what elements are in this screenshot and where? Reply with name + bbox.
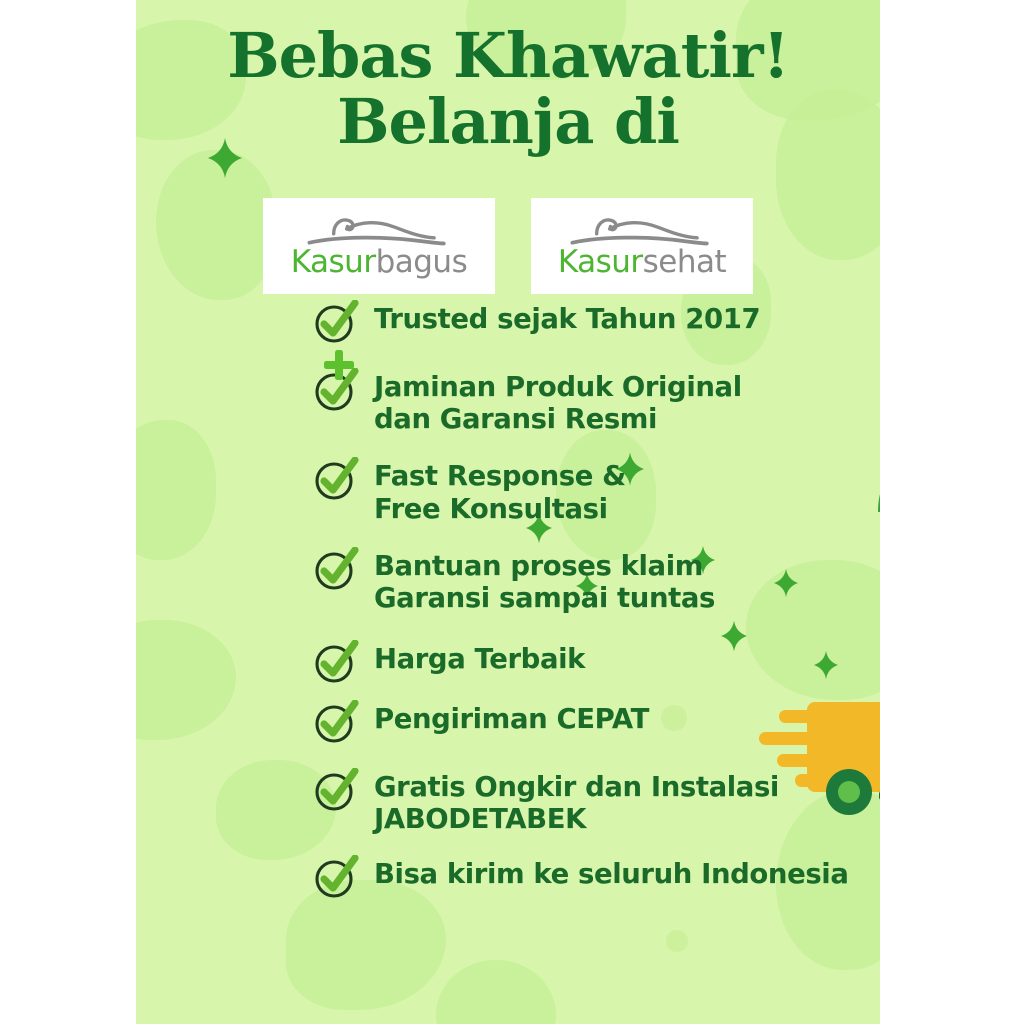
check-circle-icon [314, 855, 360, 899]
brand-name-green: Kasur [291, 244, 376, 280]
check-circle-icon [314, 700, 360, 744]
list-item-label: Jaminan Produk Originaldan Garansi Resmi [374, 368, 742, 435]
plus-icon [322, 348, 356, 387]
brand-logos: Kasurbagus Kasursehat [136, 198, 880, 294]
brand-name-green: Kasur [558, 244, 643, 280]
list-item: Pengiriman CEPAT [314, 700, 880, 744]
check-circle-icon [314, 547, 360, 591]
background-blob [436, 960, 556, 1024]
list-item: Jaminan Produk Originaldan Garansi Resmi [314, 368, 880, 435]
brand-logo-kasurbagus[interactable]: Kasurbagus [263, 198, 495, 294]
poster-canvas: Bebas Khawatir! Belanja di [0, 0, 1024, 1024]
brand-name-gray: sehat [643, 244, 727, 280]
brand-logo-kasursehat[interactable]: Kasursehat [531, 198, 753, 294]
benefits-checklist: Trusted sejak Tahun 2017 Jaminan Produk … [314, 300, 880, 919]
list-item: Fast Response &Free Konsultasi [314, 457, 880, 524]
list-item-label: Gratis Ongkir dan InstalasiJABODETABEK [374, 768, 779, 835]
list-item: Bantuan proses klaimGaransi sampai tunta… [314, 547, 880, 614]
list-item: Harga Terbaik [314, 640, 880, 684]
headline-line-2: Belanja di [136, 87, 880, 156]
promo-poster: Bebas Khawatir! Belanja di [136, 0, 880, 1024]
check-circle-icon [314, 640, 360, 684]
check-circle-icon [314, 457, 360, 501]
list-item-label: Bisa kirim ke seluruh Indonesia [374, 855, 848, 890]
list-item-label: Trusted sejak Tahun 2017 [374, 300, 760, 335]
list-item: Trusted sejak Tahun 2017 [314, 300, 880, 344]
list-item-label: Bantuan proses klaimGaransi sampai tunta… [374, 547, 715, 614]
check-circle-icon [314, 300, 360, 344]
background-blob [136, 420, 216, 560]
list-item: Gratis Ongkir dan InstalasiJABODETABEK [314, 768, 880, 835]
background-dot [666, 930, 688, 952]
list-item-label: Pengiriman CEPAT [374, 700, 649, 735]
check-circle-icon [314, 768, 360, 812]
brand-name-gray: bagus [376, 244, 468, 280]
headline-line-1: Bebas Khawatir! [136, 24, 880, 87]
brand-logo-wordmark: Kasursehat [558, 247, 726, 278]
list-item: Bisa kirim ke seluruh Indonesia [314, 855, 880, 899]
page-title: Bebas Khawatir! Belanja di [136, 24, 880, 157]
brand-logo-wordmark: Kasurbagus [291, 247, 467, 278]
list-item-label: Harga Terbaik [374, 640, 585, 675]
list-item-label: Fast Response &Free Konsultasi [374, 457, 626, 524]
background-blob [136, 620, 236, 740]
